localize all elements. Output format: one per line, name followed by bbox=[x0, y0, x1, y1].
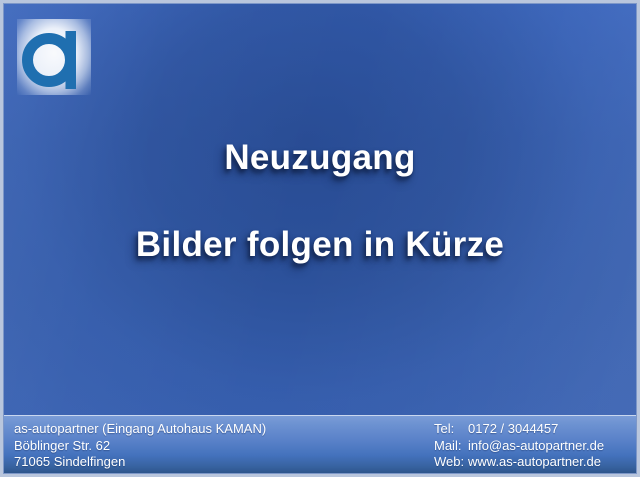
footer-bar: as-autopartner (Eingang Autohaus KAMAN) … bbox=[3, 415, 637, 474]
company-logo bbox=[22, 24, 86, 90]
contact-row-mail: Mail: info@as-autopartner.de bbox=[434, 438, 604, 455]
headline-block: Neuzugang Bilder folgen in Kürze bbox=[0, 140, 640, 264]
as-autopartner-a-logo-icon bbox=[22, 24, 86, 90]
contact-label-mail: Mail: bbox=[434, 438, 468, 455]
contact-value-mail[interactable]: info@as-autopartner.de bbox=[468, 438, 604, 455]
contact-value-phone: 0172 / 3044457 bbox=[468, 421, 558, 438]
contact-row-web: Web: www.as-autopartner.de bbox=[434, 454, 604, 471]
address-line-city: 71065 Sindelfingen bbox=[14, 454, 434, 471]
headline-primary: Neuzugang bbox=[0, 140, 640, 177]
contact-label-web: Web: bbox=[434, 454, 468, 471]
contact-value-web[interactable]: www.as-autopartner.de bbox=[468, 454, 601, 471]
contact-label-phone: Tel: bbox=[434, 421, 468, 438]
address-line-company: as-autopartner (Eingang Autohaus KAMAN) bbox=[14, 421, 434, 438]
placeholder-slide: Neuzugang Bilder folgen in Kürze as-auto… bbox=[0, 0, 640, 477]
headline-secondary: Bilder folgen in Kürze bbox=[0, 227, 640, 264]
contact-row-phone: Tel: 0172 / 3044457 bbox=[434, 421, 604, 438]
footer-contact-block: Tel: 0172 / 3044457 Mail: info@as-autopa… bbox=[434, 415, 604, 471]
address-line-street: Böblinger Str. 62 bbox=[14, 438, 434, 455]
footer-address-block: as-autopartner (Eingang Autohaus KAMAN) … bbox=[3, 415, 434, 471]
